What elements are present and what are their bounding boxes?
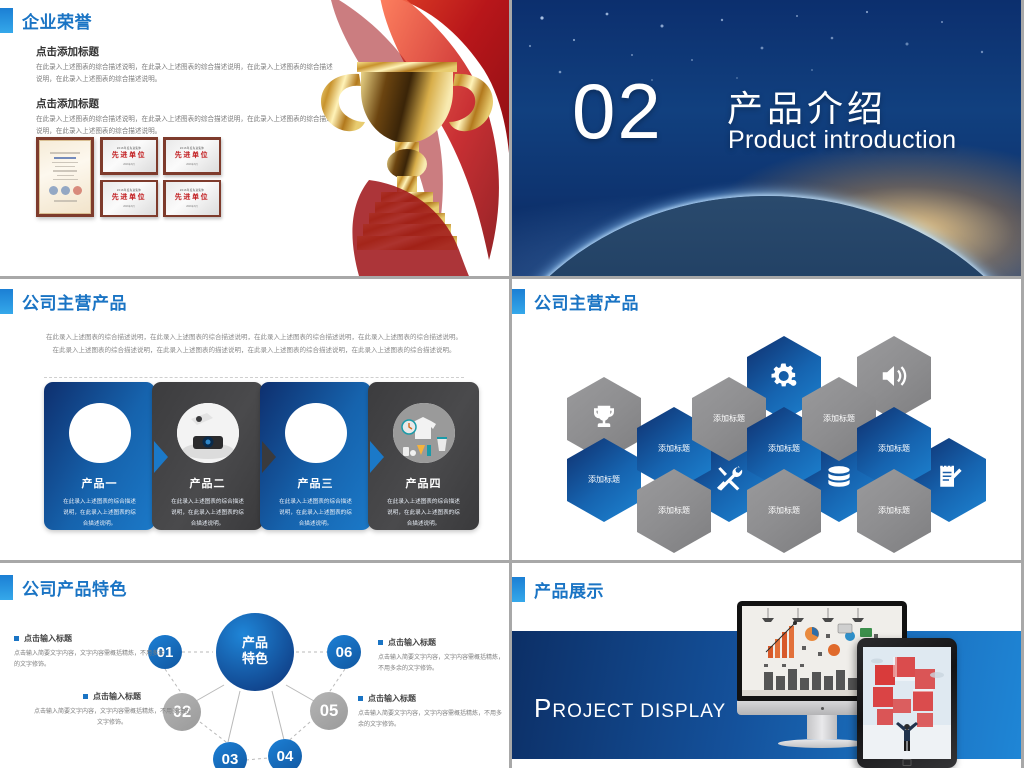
hub-line-2: 特色 [242,652,268,667]
feature-caption: 点击输入标题 点击输入简要文字内容，文字内容需概括精炼，不用多余的文字修饰。 [14,633,164,670]
product-image-placeholder [285,403,347,463]
plaque-item: 2016年度先进集体 先进单位 2016年3月 [100,180,158,218]
product-card[interactable]: 产品二 在此录入上述图表的综合描述说明，在此录入上述图表的综合描述说明。 [152,382,263,530]
honeycomb-grid: 添加标题添加标题添加标题添加标题添加标题添加标题添加标题添加标题添加标题 [512,321,1021,556]
plaque-main-text: 先进单位 [175,150,209,160]
caption-body: 点击输入简要文字内容，文字内容需概括精炼，不用多余的文字修饰。 [358,708,504,730]
arrow-notch-icon [262,441,276,473]
plaque-date: 2016年3月 [123,162,134,166]
certificate-framed [36,137,94,217]
plaque-item: 2016年度先进集体 先进单位 2016年3月 [163,180,221,218]
hex-label: 添加标题 [706,414,752,424]
trophy-icon [589,402,619,437]
product-card[interactable]: 产品一 在此录入上述图表的综合描述说明，在此录入上述图表的综合描述说明。 [44,382,155,530]
tablet-home-button[interactable] [903,759,912,766]
caption-body: 点击输入简要文字内容，文字内容需概括精炼，不用多余的文字修饰。 [14,648,164,670]
accent-bar [0,289,13,314]
slide3-section-title: 公司主营产品 [0,289,127,314]
product-image-office [393,403,455,463]
notepad-pen-icon [934,463,964,498]
page-title: 产品展示 [534,577,604,602]
arrow-notch-icon [370,441,384,473]
product-image-camera [177,403,239,463]
slide-main-products[interactable]: 公司主营产品 在此录入上述图表的综合描述说明，在此录入上述图表的综合描述说明，在… [0,279,509,560]
feature-node-03[interactable]: 03 [213,742,247,768]
plaque-item: 2016年度先进集体 先进单位 2016年3月 [163,137,221,175]
office-supplies-photo [393,403,455,463]
product-card-list: 产品一 在此录入上述图表的综合描述说明，在此录入上述图表的综合描述说明。 产品二 [44,382,476,530]
plaque-date: 2016年3月 [186,162,197,166]
plaque-grid: 2016年度先进集体 先进单位 2016年3月 2016年度先进集体 先进单位 … [100,137,221,217]
hub-circle: 产品 特色 [216,613,294,691]
speaker-icon [879,361,909,396]
display-en-rest: ROJECT DISPLAY [552,701,726,722]
arrow-notch-icon [154,441,168,473]
product-name: 产品四 [406,475,442,491]
hex-label: 添加标题 [871,444,917,454]
display-en-initial: P [534,693,552,723]
slide-honeycomb-products[interactable]: 公司主营产品 添加标题添加标题添加标题添加标题添加标题添加标题添加标题添加标题添… [512,279,1021,560]
plaque-date: 2016年3月 [123,204,134,208]
caption-heading: 点击输入标题 [378,637,504,648]
slide-deck: 企业荣誉 点击添加标题 在此录入上述图表的综合描述说明，在此录入上述图表的综合描… [0,0,1024,768]
plaque-item: 2016年度先进集体 先进单位 2016年3月 [100,137,158,175]
plaque-date: 2016年3月 [186,204,197,208]
plaque-main-text: 先进单位 [112,150,146,160]
trophy-silk-image [219,0,509,276]
feature-caption: 点击输入标题 点击输入简要文字内容，文字内容需概括精炼，不用多余的文字修饰。 [358,693,504,730]
caption-heading: 点击输入标题 [14,633,164,644]
accent-bar [0,8,13,33]
node-number: 03 [222,751,239,768]
section-title-cn: 产品介绍 [727,80,887,132]
hex-cell-label[interactable]: 添加标题 [567,438,641,522]
product-card[interactable]: 产品四 在此录入上述图表的综合描述说明，在此录入上述图表的综合描述说明。 [368,382,479,530]
node-number: 04 [277,748,294,765]
hex-label: 添加标题 [581,475,627,485]
caption-heading: 点击输入标题 [358,693,504,704]
product-text: 在此录入上述图表的综合描述说明，在此录入上述图表的综合描述说明。 [169,497,247,530]
feature-node-04[interactable]: 04 [268,739,302,768]
slide-section-divider[interactable]: 02 产品介绍 Product introduction [512,0,1021,276]
product-name: 产品三 [298,475,334,491]
plaque-main-text: 先进单位 [175,192,209,202]
hub-line-1: 产品 [242,636,268,651]
section-title-en: Product introduction [728,126,956,155]
hex-label: 添加标题 [761,506,807,516]
plaque-main-text: 先进单位 [112,192,146,202]
hex-label: 添加标题 [871,506,917,516]
tablet-device [857,638,957,768]
slide1-section-title: 企业荣誉 [0,8,92,33]
feature-node-05[interactable]: 05 [310,692,348,730]
caption-heading: 点击输入标题 [32,691,192,702]
product-text: 在此录入上述图表的综合描述说明，在此录入上述图表的综合描述说明。 [277,497,355,530]
gear-icon [769,361,799,396]
slide-product-features[interactable]: 公司产品特色 产品 特色 [0,563,509,768]
feature-caption: 点击输入标题 点击输入简要文字内容，文字内容需概括精炼，不用多余的文字修饰。 [32,691,192,728]
divider [44,377,464,378]
product-name: 产品一 [82,475,118,491]
product-text: 在此录入上述图表的综合描述说明，在此录入上述图表的综合描述说明。 [385,497,463,530]
hex-label: 添加标题 [651,506,697,516]
feature-caption: 点击输入标题 点击输入简要文字内容，文字内容需概括精炼，不用多余的文字修饰。 [378,637,504,674]
products-description: 在此录入上述图表的综合描述说明，在此录入上述图表的综合描述说明，在此录入上述图表… [44,331,464,356]
radial-diagram: 产品 特色 010203040506 点击输入标题 点击输入简要文字内容，文字内… [0,597,509,768]
red-cubes-businessman-image [863,647,951,759]
product-name: 产品二 [190,475,226,491]
tools-icon [714,463,744,498]
hex-label: 添加标题 [816,414,862,424]
product-text: 在此录入上述图表的综合描述说明，在此录入上述图表的综合描述说明。 [61,497,139,530]
node-number: 05 [320,701,339,721]
accent-bar [512,289,525,314]
display-en-title: PROJECT DISPLAY [534,693,726,724]
node-number: 06 [336,644,353,661]
camera-lens-photo [177,403,239,463]
hex-label: 添加标题 [761,444,807,454]
feature-node-06[interactable]: 06 [327,635,361,669]
caption-body: 点击输入简要文字内容，文字内容需概括精炼，不用多余的文字修饰。 [32,706,192,728]
database-icon [824,463,854,498]
page-title: 企业荣誉 [22,8,92,33]
slide6-section-title: 产品展示 [512,577,604,602]
certificate-gallery: 2016年度先进集体 先进单位 2016年3月 2016年度先进集体 先进单位 … [36,137,221,217]
page-title: 公司主营产品 [22,289,127,314]
slide-corporate-honor[interactable]: 企业荣誉 点击添加标题 在此录入上述图表的综合描述说明，在此录入上述图表的综合描… [0,0,509,276]
section-number: 02 [572,72,663,150]
accent-bar [512,577,525,602]
product-image-placeholder [69,403,131,463]
monitor-indicator-dot [821,707,824,710]
slide-project-display[interactable]: 产品展示 PROJECT DISPLAY [512,563,1021,768]
caption-body: 点击输入简要文字内容，文字内容需概括精炼，不用多余的文字修饰。 [378,652,504,674]
hex-label: 添加标题 [651,444,697,454]
slide4-section-title: 公司主营产品 [512,289,639,314]
monitor-base [778,739,866,748]
product-card[interactable]: 产品三 在此录入上述图表的综合描述说明，在此录入上述图表的综合描述说明。 [260,382,371,530]
monitor-stand [807,715,837,739]
page-title: 公司主营产品 [534,289,639,314]
